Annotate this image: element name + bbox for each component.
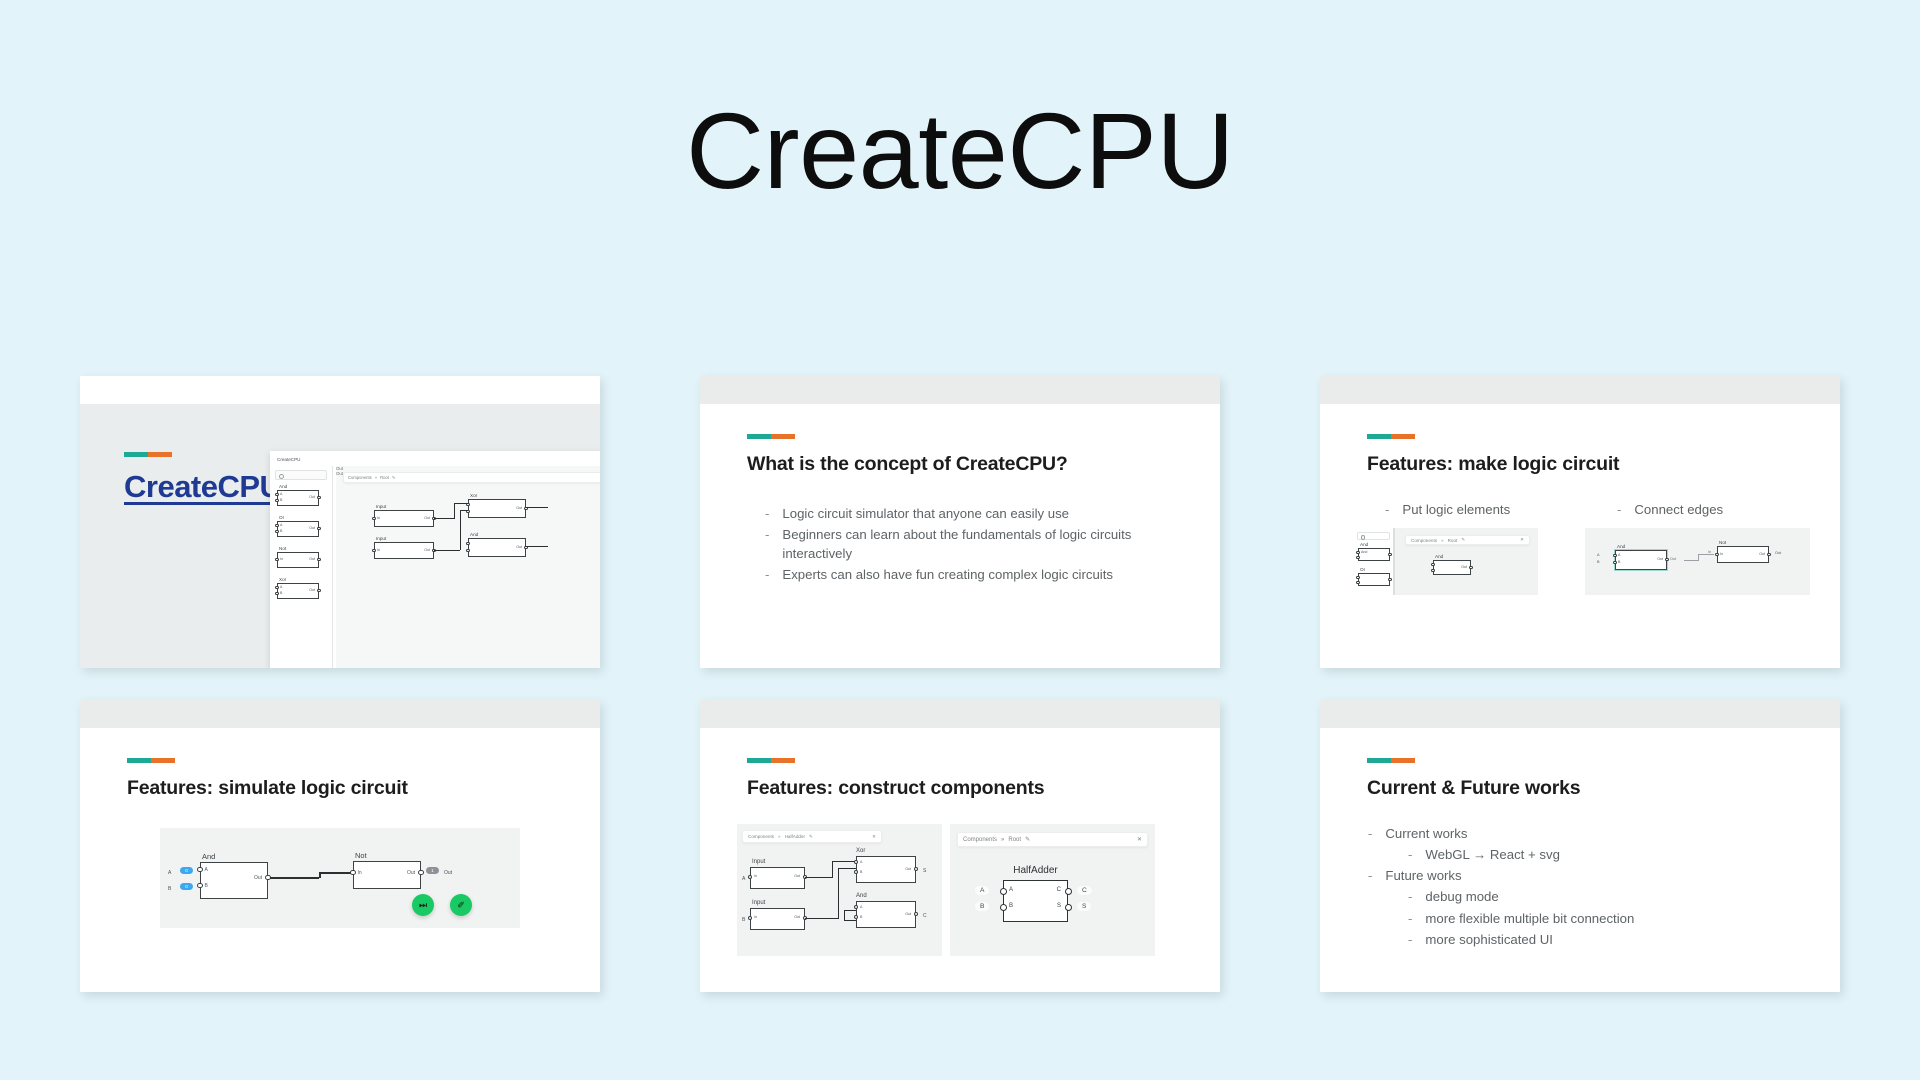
simulation-canvas[interactable]: A 0 B 0 And A B Out Not	[160, 828, 520, 928]
app-screenshot-mockup: CreateCPU And A B Out	[270, 451, 600, 668]
accent-orange	[771, 758, 795, 763]
pin-label-a: A	[1618, 553, 1620, 557]
palette-gate-and[interactable]: And And	[1358, 548, 1390, 561]
pin-out[interactable]	[1665, 558, 1668, 561]
gate-and[interactable]: And A B Out	[856, 901, 916, 928]
pin-label-b: B	[280, 498, 282, 502]
pin-label-a: A	[280, 492, 282, 496]
pin-label-in: In	[280, 557, 283, 561]
accent-orange	[151, 758, 175, 763]
works-list: - Current works - WebGL → React + svg - …	[1368, 824, 1768, 951]
wire	[844, 920, 856, 921]
input-value-b[interactable]: 0	[180, 883, 193, 890]
dash-bullet-icon: -	[1368, 866, 1372, 885]
pin-label-out: Out	[905, 867, 911, 871]
wire	[838, 868, 856, 869]
wire	[526, 546, 548, 547]
accent-teal	[747, 758, 771, 763]
pin-label-in: In	[1720, 552, 1723, 556]
wire	[844, 910, 856, 911]
wire	[319, 872, 353, 874]
pin-label-b: B	[280, 529, 282, 533]
pin-a[interactable]	[197, 867, 202, 872]
gate-input-1[interactable]: Input In Out	[750, 867, 805, 889]
pin-out[interactable]	[1388, 578, 1391, 581]
edit-button[interactable]: ✐	[450, 894, 472, 916]
input-label-b: B	[168, 886, 171, 892]
canvas-gate-input-1[interactable]: Input In Out	[374, 510, 434, 527]
list-item: - debug mode	[1408, 887, 1768, 906]
dash-bullet-icon: -	[1617, 500, 1621, 519]
pin-label-in: In	[754, 874, 757, 878]
pin-label-out: Out	[309, 526, 315, 530]
accent-orange	[771, 434, 795, 439]
pin-label-b: B	[205, 883, 208, 889]
accent-orange	[1391, 758, 1415, 763]
slide-topbar	[1320, 700, 1840, 728]
slide-header: Current & Future works	[1367, 758, 1580, 800]
component-palette-panel: And And Or	[1353, 528, 1395, 595]
pin-out[interactable]	[1388, 553, 1391, 556]
dragged-gate-and[interactable]: And Out	[1433, 560, 1471, 575]
pin-label-out: Out	[1461, 565, 1467, 569]
pin-out[interactable]	[914, 867, 918, 871]
pin-label-out: Out	[254, 875, 262, 881]
pin-label-a: A	[860, 860, 862, 864]
pin-label-b: B	[860, 915, 862, 919]
pin-in[interactable]	[350, 870, 355, 875]
list-item: - more flexible multiple bit connection	[1408, 909, 1768, 928]
external-output-out: Out	[1775, 551, 1781, 555]
pin-out[interactable]	[418, 870, 423, 875]
pin-label-out: Out	[1759, 552, 1765, 556]
pin-in[interactable]	[372, 549, 375, 552]
pencil-icon[interactable]: ✎	[1461, 537, 1465, 543]
external-input-a: A	[742, 876, 745, 882]
component-halfadder[interactable]: HalfAdder A B C S	[1003, 880, 1068, 922]
component-palette-panel: And A B Out Or A	[270, 466, 333, 668]
slide-body: What is the concept of CreateCPU? - Logi…	[700, 404, 1220, 668]
gate-label: And	[1360, 542, 1368, 547]
gate-label: And	[470, 532, 478, 537]
pin-label-out: Out	[905, 912, 911, 916]
breadcrumb-root[interactable]: Components	[748, 834, 774, 839]
bullet-text: Beginners can learn about the fundamenta…	[782, 525, 1135, 563]
bullet-list-left: - Put logic elements	[1385, 500, 1560, 521]
slide-thumbnail-simulate[interactable]: Features: simulate logic circuit A 0 B 0…	[80, 700, 600, 992]
pin-label-out: Out	[516, 506, 522, 510]
dash-bullet-icon: -	[1408, 887, 1412, 906]
pin-label-out: Out	[309, 495, 315, 499]
input-label-a: A	[168, 870, 171, 876]
mockup-put-elements: And And Or	[1353, 528, 1538, 595]
pin-s[interactable]	[1065, 904, 1072, 911]
gate-label: Input	[376, 536, 386, 541]
palette-gate-or[interactable]: Or	[1358, 573, 1390, 586]
slide-header: What is the concept of CreateCPU?	[747, 434, 1068, 476]
canvas-gate-input-2[interactable]: Input In Out	[374, 542, 434, 559]
wire	[434, 518, 454, 519]
accent-bar	[1367, 758, 1415, 763]
wire	[1698, 554, 1699, 561]
close-icon[interactable]: ✕	[872, 834, 876, 840]
accent-teal	[1367, 434, 1391, 439]
accent-orange	[148, 452, 172, 457]
pin-label-a: And	[1361, 550, 1367, 554]
dash-bullet-icon: -	[765, 565, 769, 584]
slide-grid: CreateCPU CreateCPU And A B Out	[0, 300, 1920, 1080]
close-icon[interactable]: ✕	[1137, 836, 1142, 843]
slide-thumbnail-make-logic-circuit[interactable]: Features: make logic circuit - Put logic…	[1320, 376, 1840, 668]
gate-label: Or	[279, 515, 284, 520]
pin-a[interactable]	[1356, 576, 1359, 579]
group-label-current: Current works	[1385, 824, 1768, 843]
accent-teal	[124, 452, 148, 457]
pin-label-a: A	[205, 867, 208, 873]
pin-b[interactable]	[197, 883, 202, 888]
wire	[832, 861, 856, 862]
palette-gate-and[interactable]: And A B Out	[277, 490, 319, 506]
list-item: - Connect edges	[1617, 500, 1792, 519]
wire	[454, 503, 455, 519]
accent-bar	[747, 758, 795, 763]
slide-body: Features: make logic circuit - Put logic…	[1320, 404, 1840, 668]
pin-in[interactable]	[372, 517, 375, 520]
pin-label-b: B	[1009, 903, 1013, 909]
pin-label-out: Out	[407, 870, 415, 876]
pin-in[interactable]	[1715, 553, 1718, 556]
mockup-halfadder-component: Components » Root ✎ ✕ HalfAdder A B C	[950, 824, 1155, 956]
pencil-icon: ✐	[457, 900, 465, 911]
component-box	[1003, 880, 1068, 922]
gate-xor[interactable]: Xor A B Out	[856, 856, 916, 883]
breadcrumb[interactable]: Components » Root ✎ ✕	[1405, 535, 1530, 545]
dash-bullet-icon: -	[1408, 845, 1412, 864]
accent-teal	[747, 434, 771, 439]
canvas-panel[interactable]: Components » Root ✎ ✕ Input In Out	[336, 466, 600, 668]
external-output-s[interactable]: S	[1077, 902, 1091, 911]
pin-label-out: Out	[309, 557, 315, 561]
accent-bar	[747, 434, 795, 439]
pin-label-in: In	[754, 915, 757, 919]
search-input[interactable]	[275, 470, 327, 480]
pin-b[interactable]	[1000, 904, 1007, 911]
external-input-b: B	[742, 917, 745, 923]
slide-header: Features: construct components	[747, 758, 1044, 800]
breadcrumb-root[interactable]: Components	[348, 475, 372, 480]
slide-header: Features: make logic circuit	[1367, 434, 1619, 476]
sim-gate-not[interactable]: Not In Out	[353, 861, 421, 889]
gate-label: Xor	[856, 848, 865, 854]
pin-out[interactable]	[1469, 566, 1472, 569]
dash-bullet-icon: -	[765, 525, 769, 563]
slide-topbar	[700, 700, 1220, 728]
gate-label: Input	[752, 859, 765, 865]
palette-gate-xor[interactable]: Xor A B Out	[277, 583, 319, 599]
gate-label: Xor	[470, 493, 477, 498]
wire-out-label: Out	[1670, 557, 1676, 561]
gate-input-2[interactable]: Input In Out	[750, 908, 805, 930]
bullet-text: Connect edges	[1634, 500, 1792, 519]
output-value: 1	[426, 867, 439, 874]
external-input-b: B	[1597, 560, 1600, 564]
wire	[805, 877, 832, 878]
external-input-b[interactable]: B	[975, 902, 989, 911]
bullet-list: - Logic circuit simulator that anyone ca…	[765, 504, 1135, 587]
pin-label-a: A	[1009, 887, 1013, 893]
pin-a[interactable]	[1000, 888, 1007, 895]
output-label: Out	[444, 870, 452, 876]
external-output-s: S	[923, 868, 926, 874]
wire	[1698, 554, 1714, 555]
accent-bar	[124, 452, 172, 457]
dash-bullet-icon: -	[1408, 909, 1412, 928]
pin-out[interactable]	[1767, 553, 1770, 556]
mockup-connect-edges: And A B Out A B Out In Not	[1585, 528, 1810, 595]
list-item: - Beginners can learn about the fundamen…	[765, 525, 1135, 563]
slide-heading: Features: simulate logic circuit	[127, 777, 408, 800]
pin-label-out: Out	[516, 545, 522, 549]
dash-bullet-icon: -	[765, 504, 769, 523]
slide-thumbnail-current-future-works[interactable]: Current & Future works - Current works -…	[1320, 700, 1840, 992]
list-item: - Future works	[1368, 866, 1768, 885]
wire	[844, 910, 845, 920]
list-item: - Logic circuit simulator that anyone ca…	[765, 504, 1135, 523]
breadcrumb[interactable]: Components » Root ✎ ✕	[957, 832, 1148, 847]
wire	[454, 503, 468, 504]
wire-in-label: In	[1708, 550, 1711, 554]
wire	[832, 861, 833, 878]
slide-heading: Current & Future works	[1367, 777, 1580, 800]
list-item: - Current works	[1368, 824, 1768, 843]
pin-out[interactable]	[317, 589, 320, 592]
breadcrumb-current[interactable]: HalfAdder	[785, 834, 805, 839]
accent-bar	[127, 758, 175, 763]
palette-gate-or[interactable]: Or A B Out	[277, 521, 319, 537]
chevron-double-right-icon: »	[778, 834, 781, 839]
bullet-text: WebGL → React + svg	[1425, 845, 1768, 864]
pin-c[interactable]	[1065, 888, 1072, 895]
pin-label-b: B	[280, 591, 282, 595]
gate-box	[1358, 573, 1390, 586]
bullet-list-right: - Connect edges	[1617, 500, 1792, 521]
pin-out[interactable]	[317, 496, 320, 499]
accent-teal	[1367, 758, 1391, 763]
bullet-text: more flexible multiple bit connection	[1425, 909, 1768, 928]
dash-bullet-icon: -	[1368, 824, 1372, 843]
pin-label-a: A	[280, 523, 282, 527]
pin-out[interactable]	[317, 527, 320, 530]
gate-label: And	[279, 484, 287, 489]
slide-heading: What is the concept of CreateCPU?	[747, 453, 1068, 476]
slide-body: Features: construct components Component…	[700, 728, 1220, 992]
gate-label: Not	[279, 546, 286, 551]
list-item: - Put logic elements	[1385, 500, 1560, 519]
pencil-icon[interactable]: ✎	[809, 834, 813, 840]
input-value-a[interactable]: 0	[180, 867, 193, 874]
slide-topbar	[1320, 376, 1840, 404]
wire	[270, 877, 319, 879]
chevron-double-right-icon: »	[1001, 837, 1004, 843]
wire	[460, 510, 468, 511]
canvas-gate-and[interactable]: And Out	[468, 538, 526, 557]
pin-label-out: Out	[309, 588, 315, 592]
app-window-title: CreateCPU	[277, 457, 301, 462]
pin-label-out: Out	[794, 915, 800, 919]
pin-label-out: Out	[1657, 557, 1663, 561]
close-icon[interactable]: ✕	[1520, 537, 1524, 543]
pin-label-in: In	[377, 548, 380, 552]
wire	[526, 507, 548, 508]
pin-label-out: Out	[424, 516, 430, 520]
pin-label-a: A	[860, 905, 862, 909]
gate-label: And	[856, 893, 867, 899]
brand-wordmark: CreateCPU	[124, 469, 281, 505]
accent-orange	[1391, 434, 1415, 439]
gate-label: Input	[376, 504, 386, 509]
page-title: CreateCPU	[0, 0, 1920, 300]
pin-label-s: S	[1057, 903, 1061, 909]
pin-label-a: A	[280, 585, 282, 589]
gate-label: Not	[1719, 540, 1726, 545]
slide-heading: Features: make logic circuit	[1367, 453, 1619, 476]
external-input-a: A	[1597, 553, 1600, 557]
title-slide-stage: CreateCPU CreateCPU And A B Out	[80, 404, 600, 668]
slide-thumbnail-construct-components[interactable]: Features: construct components Component…	[700, 700, 1220, 992]
bullet-text: more sophisticated UI	[1425, 930, 1768, 949]
breadcrumb[interactable]: Components » Root ✎ ✕	[343, 472, 600, 483]
breadcrumb-current[interactable]: Root	[1008, 837, 1021, 843]
pin-out[interactable]	[317, 558, 320, 561]
bullet-text: debug mode	[1425, 887, 1768, 906]
step-forward-icon: ⏭	[419, 900, 427, 911]
external-output-c: C	[923, 913, 927, 919]
gate-label: And	[1617, 544, 1625, 549]
external-input-a[interactable]: A	[975, 886, 989, 895]
chevron-double-right-icon: »	[375, 475, 377, 480]
slide-thumbnail-concept[interactable]: What is the concept of CreateCPU? - Logi…	[700, 376, 1220, 668]
gate-label: Input	[752, 900, 765, 906]
list-item: - more sophisticated UI	[1408, 930, 1768, 949]
dash-bullet-icon: -	[1408, 930, 1412, 949]
gate-label: And	[1435, 554, 1443, 559]
pin-label-out: Out	[424, 548, 430, 552]
gate-label: Xor	[279, 577, 286, 582]
canvas-gate-not[interactable]: Not In Out	[1717, 546, 1769, 563]
gate-label: Or	[1360, 567, 1365, 572]
slide-heading: Features: construct components	[747, 777, 1044, 800]
breadcrumb-root[interactable]: Components	[1411, 538, 1437, 543]
list-item: - WebGL → React + svg	[1408, 845, 1768, 864]
wire	[805, 918, 838, 919]
pin-a[interactable]	[1356, 551, 1359, 554]
sim-gate-and[interactable]: And A B Out	[200, 862, 268, 899]
wire	[434, 550, 460, 551]
breadcrumb[interactable]: Components » HalfAdder ✎ ✕	[742, 830, 882, 843]
pin-b[interactable]	[1356, 556, 1359, 559]
list-item: - Experts can also have fun creating com…	[765, 565, 1135, 584]
gate-label: Not	[355, 851, 367, 860]
pin-label-out: Out	[794, 874, 800, 878]
slide-topbar	[80, 700, 600, 728]
slide-thumbnail-title[interactable]: CreateCPU CreateCPU And A B Out	[80, 376, 600, 668]
pin-label-in: In	[377, 516, 380, 520]
breadcrumb-current[interactable]: Root	[1448, 538, 1458, 543]
bullet-text: Experts can also have fun creating compl…	[782, 565, 1135, 584]
canvas-gate-xor[interactable]: Xor Out	[468, 499, 526, 518]
breadcrumb-current[interactable]: Root	[380, 475, 389, 480]
slide-body: Features: simulate logic circuit A 0 B 0…	[80, 728, 600, 992]
pin-out[interactable]	[914, 912, 918, 916]
step-button[interactable]: ⏭	[412, 894, 434, 916]
accent-bar	[1367, 434, 1415, 439]
breadcrumb-root[interactable]: Components	[963, 837, 997, 843]
wire	[1684, 560, 1698, 561]
bullet-text: Logic circuit simulator that anyone can …	[782, 504, 1135, 523]
gate-label: And	[202, 852, 215, 861]
wire	[838, 868, 839, 919]
group-label-future: Future works	[1385, 866, 1768, 885]
pin-label-b: B	[1618, 560, 1620, 564]
palette-gate-not[interactable]: Not In Out	[277, 552, 319, 568]
slide-topbar	[80, 376, 600, 404]
pin-label-b: B	[860, 870, 862, 874]
slide-topbar	[700, 376, 1220, 404]
wire	[460, 510, 461, 550]
slide-header: Features: simulate logic circuit	[127, 758, 408, 800]
pin-label-c: C	[1057, 887, 1061, 893]
chevron-double-right-icon: »	[1441, 538, 1444, 543]
accent-teal	[127, 758, 151, 763]
mockup-halfadder-internals: Components » HalfAdder ✎ ✕ A B Input In …	[737, 824, 942, 956]
dash-bullet-icon: -	[1385, 500, 1389, 519]
bullet-text: Put logic elements	[1402, 500, 1560, 519]
pencil-icon[interactable]: ✎	[392, 475, 396, 480]
slide-body: Current & Future works - Current works -…	[1320, 728, 1840, 992]
search-input[interactable]	[1357, 532, 1390, 540]
external-output-c[interactable]: C	[1077, 886, 1092, 895]
pin-label-in: In	[358, 870, 362, 876]
pin-b[interactable]	[1356, 581, 1359, 584]
pencil-icon[interactable]: ✎	[1025, 836, 1030, 843]
brand-logo: CreateCPU	[124, 452, 281, 505]
canvas-gate-and-selected[interactable]: And A B Out	[1615, 550, 1667, 570]
component-name: HalfAdder	[1003, 865, 1068, 876]
